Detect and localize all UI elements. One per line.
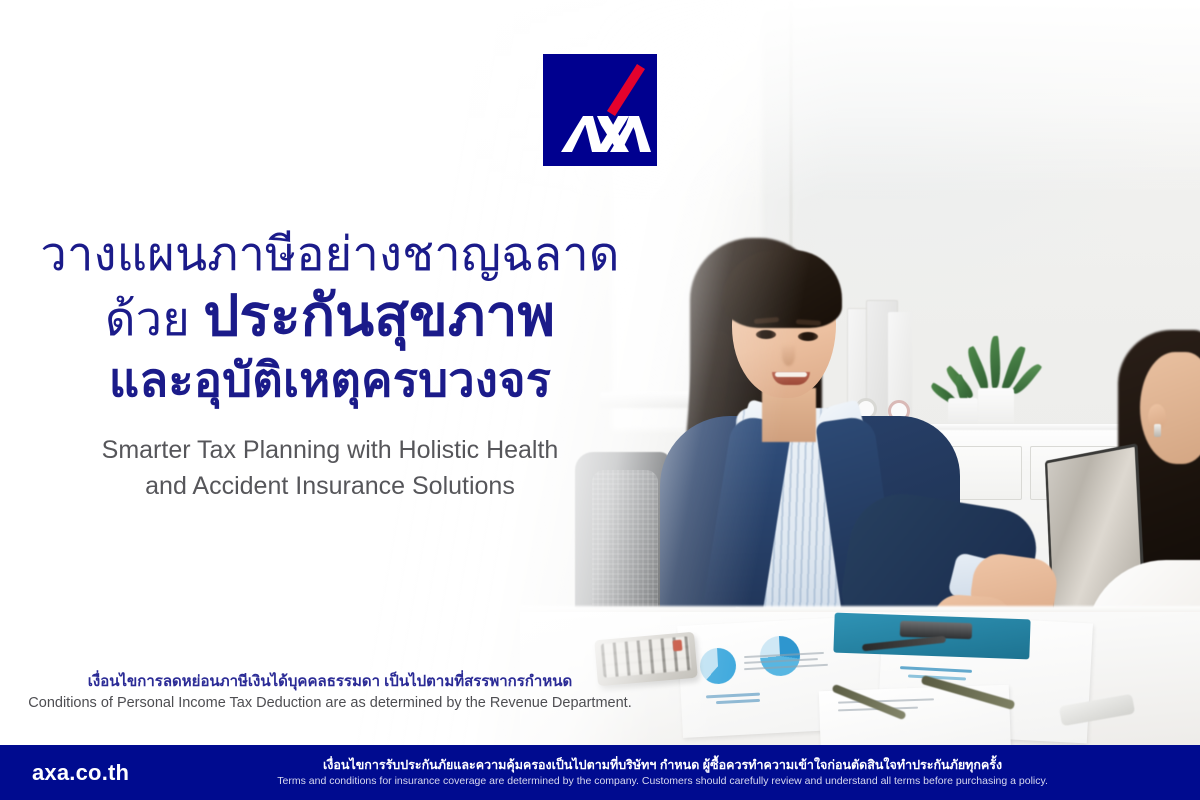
headline-line-2-prefix: ด้วย — [105, 292, 203, 345]
disclaimer-english: Conditions of Personal Income Tax Deduct… — [0, 693, 660, 713]
footer-terms-english: Terms and conditions for insurance cover… — [137, 774, 1188, 788]
subheadline-line-1: Smarter Tax Planning with Holistic Healt… — [0, 433, 660, 469]
subheadline-line-2: and Accident Insurance Solutions — [0, 469, 660, 505]
axa-logo[interactable] — [543, 54, 657, 166]
headline-line-2: ด้วย ประกันสุขภาพ — [0, 283, 660, 350]
website-url-link[interactable]: axa.co.th — [32, 760, 129, 786]
axa-tax-planning-banner: วางแผนภาษีอย่างชาญฉลาด ด้วย ประกันสุขภาพ… — [0, 0, 1200, 800]
headline-line-2-strong: ประกันสุขภาพ — [203, 284, 555, 348]
subheadline: Smarter Tax Planning with Holistic Healt… — [0, 433, 660, 504]
headline: วางแผนภาษีอย่างชาญฉลาด ด้วย ประกันสุขภาพ… — [0, 228, 660, 407]
footer-bar: axa.co.th เงื่อนไขการรับประกันภัยและความ… — [0, 745, 1200, 800]
headline-line-1: วางแผนภาษีอย่างชาญฉลาด — [0, 228, 660, 281]
headline-line-3: และอุบัติเหตุครบวงจร — [0, 352, 660, 407]
disclaimer-block: เงื่อนไขการลดหย่อนภาษีเงินได้บุคคลธรรมดา… — [0, 672, 660, 713]
headline-block: วางแผนภาษีอย่างชาญฉลาด ด้วย ประกันสุขภาพ… — [0, 228, 660, 504]
footer-terms-thai: เงื่อนไขการรับประกันภัยและความคุ้มครองเป… — [137, 757, 1188, 774]
disclaimer-thai: เงื่อนไขการลดหย่อนภาษีเงินได้บุคคลธรรมดา… — [0, 672, 660, 692]
footer-terms-block: เงื่อนไขการรับประกันภัยและความคุ้มครองเป… — [129, 757, 1200, 788]
